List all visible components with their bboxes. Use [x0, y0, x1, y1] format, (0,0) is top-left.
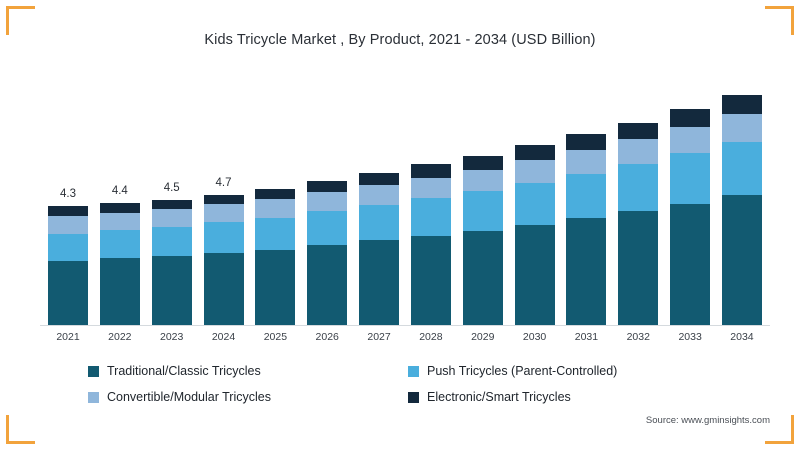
bar-group[interactable]: 4.7 — [204, 70, 244, 325]
bar-group[interactable] — [722, 70, 762, 325]
bar-segment[interactable] — [515, 225, 555, 325]
x-axis-tick-label: 2023 — [152, 331, 192, 349]
bar-group[interactable] — [670, 70, 710, 325]
bar-segment[interactable] — [515, 183, 555, 225]
bar-value-label: 4.4 — [100, 185, 140, 197]
bar-segment[interactable] — [48, 206, 88, 217]
x-axis-tick-label: 2022 — [100, 331, 140, 349]
x-axis-tick-label: 2025 — [255, 331, 295, 349]
legend-swatch-icon — [408, 366, 419, 377]
bar-segment[interactable] — [566, 150, 606, 174]
legend-swatch-icon — [408, 392, 419, 403]
bar-group[interactable]: 4.3 — [48, 70, 88, 325]
bar-segment[interactable] — [722, 195, 762, 325]
bar-group[interactable] — [411, 70, 451, 325]
bar-segment[interactable] — [411, 164, 451, 178]
bar-segment[interactable] — [463, 156, 503, 170]
bar-segment[interactable] — [566, 134, 606, 150]
bar-group[interactable] — [359, 70, 399, 325]
bar-segment[interactable] — [204, 253, 244, 325]
bar-segment[interactable] — [722, 142, 762, 196]
bar-segment[interactable] — [670, 204, 710, 325]
bar-segment[interactable] — [255, 218, 295, 250]
bar-segment[interactable] — [307, 245, 347, 325]
x-axis-tick-label: 2031 — [566, 331, 606, 349]
bar-value-label: 4.3 — [48, 188, 88, 200]
x-axis-tick-label: 2034 — [722, 331, 762, 349]
bar-segment[interactable] — [152, 209, 192, 226]
bar-segment[interactable] — [359, 173, 399, 186]
bar-segment[interactable] — [722, 114, 762, 142]
bar-group[interactable] — [463, 70, 503, 325]
bar-segment[interactable] — [307, 192, 347, 211]
bar-value-label: 4.7 — [204, 177, 244, 189]
bar-segment[interactable] — [100, 203, 140, 213]
bar-segment[interactable] — [411, 198, 451, 235]
x-axis-tick-label: 2028 — [411, 331, 451, 349]
legend-item[interactable]: Traditional/Classic Tricycles — [88, 358, 408, 384]
bar-segment[interactable] — [411, 178, 451, 199]
bar-segment[interactable] — [618, 123, 658, 140]
bar-segment[interactable] — [307, 211, 347, 245]
bar-segment[interactable] — [255, 199, 295, 217]
x-axis-tick-label: 2030 — [515, 331, 555, 349]
bar-group[interactable] — [618, 70, 658, 325]
bar-segment[interactable] — [463, 170, 503, 191]
bar-segment[interactable] — [359, 185, 399, 205]
bar-group[interactable]: 4.5 — [152, 70, 192, 325]
x-axis-tick-label: 2026 — [307, 331, 347, 349]
x-axis-tick-label: 2032 — [618, 331, 658, 349]
source-credit: Source: www.gminsights.com — [646, 415, 770, 426]
bar-segment[interactable] — [100, 258, 140, 325]
bar-segment[interactable] — [722, 95, 762, 114]
x-axis-tick-label: 2033 — [670, 331, 710, 349]
bar-series-container: 4.34.44.54.7 — [40, 70, 770, 325]
bar-segment[interactable] — [463, 191, 503, 230]
bar-segment[interactable] — [566, 218, 606, 325]
bar-segment[interactable] — [618, 139, 658, 164]
bar-segment[interactable] — [463, 231, 503, 325]
bar-segment[interactable] — [411, 236, 451, 325]
legend-swatch-icon — [88, 366, 99, 377]
bar-segment[interactable] — [255, 189, 295, 199]
bar-segment[interactable] — [48, 216, 88, 233]
bar-segment[interactable] — [204, 222, 244, 252]
bar-segment[interactable] — [307, 181, 347, 192]
x-axis-tick-label: 2024 — [204, 331, 244, 349]
legend-item[interactable]: Push Tricycles (Parent-Controlled) — [408, 358, 728, 384]
legend-label: Electronic/Smart Tricycles — [427, 390, 571, 404]
bar-segment[interactable] — [670, 127, 710, 153]
bar-segment[interactable] — [48, 234, 88, 262]
frame-corner-bottom-left — [6, 415, 35, 444]
bar-segment[interactable] — [670, 153, 710, 203]
legend-item[interactable]: Convertible/Modular Tricycles — [88, 384, 408, 410]
chart-legend: Traditional/Classic TricyclesPush Tricyc… — [88, 358, 728, 410]
x-axis-line — [40, 325, 770, 326]
plot-area: 4.34.44.54.7 — [40, 70, 770, 325]
chart-title: Kids Tricycle Market , By Product, 2021 … — [0, 32, 800, 48]
legend-swatch-icon — [88, 392, 99, 403]
chart-page: Kids Tricycle Market , By Product, 2021 … — [0, 0, 800, 450]
bar-segment[interactable] — [359, 205, 399, 240]
bar-segment[interactable] — [152, 227, 192, 256]
bar-group[interactable] — [515, 70, 555, 325]
bar-value-label: 4.5 — [152, 182, 192, 194]
bar-segment[interactable] — [618, 211, 658, 325]
legend-item[interactable]: Electronic/Smart Tricycles — [408, 384, 728, 410]
x-axis-tick-label: 2027 — [359, 331, 399, 349]
x-axis-tick-labels: 2021202220232024202520262027202820292030… — [40, 331, 770, 349]
bar-group[interactable] — [307, 70, 347, 325]
bar-segment[interactable] — [100, 230, 140, 258]
legend-label: Push Tricycles (Parent-Controlled) — [427, 364, 617, 378]
legend-label: Convertible/Modular Tricycles — [107, 390, 271, 404]
bar-segment[interactable] — [100, 213, 140, 230]
legend-label: Traditional/Classic Tricycles — [107, 364, 261, 378]
bar-segment[interactable] — [515, 160, 555, 182]
bar-segment[interactable] — [255, 250, 295, 325]
bar-segment[interactable] — [152, 256, 192, 325]
bar-segment[interactable] — [618, 164, 658, 211]
bar-segment[interactable] — [566, 174, 606, 218]
bar-segment[interactable] — [152, 200, 192, 209]
frame-corner-top-right — [765, 6, 794, 35]
bar-segment[interactable] — [48, 261, 88, 325]
bar-group[interactable] — [566, 70, 606, 325]
bar-group[interactable] — [255, 70, 295, 325]
bar-segment[interactable] — [204, 204, 244, 222]
bar-group[interactable]: 4.4 — [100, 70, 140, 325]
bar-segment[interactable] — [515, 145, 555, 161]
x-axis-tick-label: 2029 — [463, 331, 503, 349]
bar-segment[interactable] — [204, 195, 244, 205]
bar-segment[interactable] — [670, 109, 710, 127]
frame-corner-top-left — [6, 6, 35, 35]
x-axis-tick-label: 2021 — [48, 331, 88, 349]
bar-segment[interactable] — [359, 240, 399, 325]
